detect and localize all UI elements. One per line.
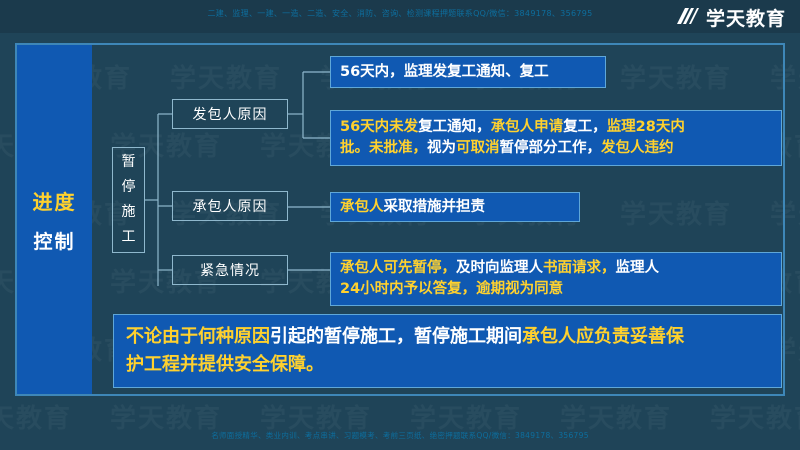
text-line: 承包人采取措施并担责 [340, 197, 570, 218]
highlight-run: 书面请求， [543, 260, 616, 276]
branch-label-employer-reason: 发包人原因 [172, 99, 288, 129]
text-line: 护工程并提供安全保障。 [126, 351, 769, 379]
left-title-line-1: 进度 [33, 186, 77, 215]
highlight-run: 承包人 [340, 199, 384, 215]
normal-run: 采取措施并担责 [384, 199, 486, 215]
normal-run: 及时向监理人 [456, 260, 543, 276]
root-node-char: 工 [122, 225, 136, 250]
highlight-run: 承包人申请 [491, 119, 564, 135]
content-box-employer-reason-1: 56天内，监理发复工通知、复工 [330, 56, 606, 88]
root-node-char: 停 [122, 175, 136, 200]
text-line: 56天内未发复工通知，承包人申请复工，监理28天内 [340, 117, 772, 138]
left-title-bar: 进度 控制 [17, 45, 92, 394]
content-box-emergency: 承包人可先暂停，及时向监理人书面请求，监理人24小时内予以答复，逾期视为同意 [330, 252, 782, 306]
highlight-run: 护工程并提供安全保障。 [126, 354, 324, 375]
root-node-char: 暂 [122, 150, 136, 175]
text-line: 承包人可先暂停，及时向监理人书面请求，监理人 [340, 258, 772, 279]
normal-run: 复工， [563, 119, 607, 135]
highlight-run: 发包人违约 [601, 140, 674, 156]
highlight-run: 24小时内予以答复，逾期视为同意 [340, 281, 563, 297]
root-node-char: 施 [122, 200, 136, 225]
normal-run: 复工通知， [418, 119, 491, 135]
normal-run: 引起的暂停施工，暂停施工期间 [270, 326, 522, 347]
text-line: 批。未批准，视为可取消暂停部分工作，发包人违约 [340, 138, 772, 159]
text-line: 不论由于何种原因引起的暂停施工，暂停施工期间承包人应负责妥善保 [126, 323, 769, 351]
content-box-contractor-reason: 承包人采取措施并担责 [330, 192, 580, 222]
slide-canvas: 二建、监理、一建、一造、二造、安全、消防、咨询、检测课程押题联系QQ/微信：38… [0, 0, 800, 450]
highlight-run: 批。未批准， [340, 140, 427, 156]
highlight-run: 监理28天内 [607, 119, 685, 135]
slanted-stripes-logo-icon [675, 6, 701, 31]
brand-logo: 学天教育 [675, 6, 786, 31]
normal-run: 监理人 [616, 260, 660, 276]
highlight-run: 56天内未发 [340, 119, 418, 135]
footer-promo-text: 名师面授精华、类业内训、考点串讲、习题模考、考前三页纸、绝密押题联系QQ/微信：… [0, 430, 800, 441]
highlight-run: 承包人应负责妥善保 [522, 326, 684, 347]
normal-run: 56天内，监理发复工通知、复工 [340, 64, 549, 80]
branch-label-contractor-reason: 承包人原因 [172, 191, 288, 221]
content-box-employer-reason-2: 56天内未发复工通知，承包人申请复工，监理28天内批。未批准，视为可取消暂停部分… [330, 110, 782, 166]
highlight-run: 可取消 [456, 140, 500, 156]
branch-label-emergency: 紧急情况 [172, 255, 288, 285]
highlight-run: 不论由于何种原因 [126, 326, 270, 347]
normal-run: 视为 [427, 140, 456, 156]
text-line: 24小时内予以答复，逾期视为同意 [340, 279, 772, 300]
text-line: 56天内，监理发复工通知、复工 [340, 62, 596, 83]
summary-box: 不论由于何种原因引起的暂停施工，暂停施工期间承包人应负责妥善保护工程并提供安全保… [113, 314, 782, 388]
normal-run: 暂停部分工作， [500, 140, 602, 156]
left-title-line-2: 控制 [33, 227, 75, 254]
brand-logo-text: 学天教育 [706, 9, 786, 29]
highlight-run: 承包人可先暂停， [340, 260, 456, 276]
root-node-suspend-construction: 暂 停 施 工 [112, 147, 145, 253]
